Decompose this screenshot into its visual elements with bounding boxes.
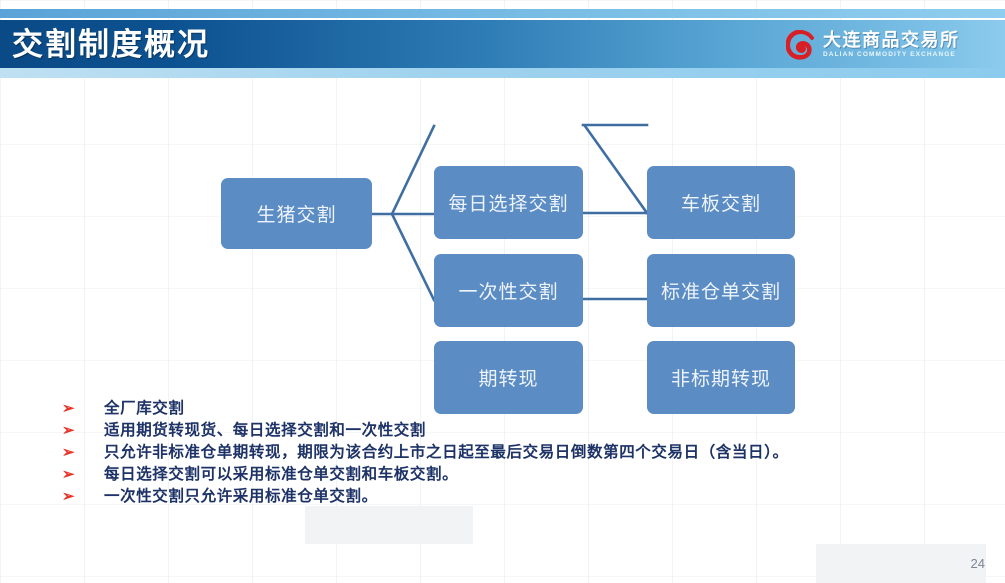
list-item: ➢ 全厂库交割 (62, 398, 962, 420)
arrow-bullet-icon: ➢ (62, 442, 104, 464)
node-root[interactable]: 生猪交割 (221, 178, 372, 249)
exchange-logo: 大连商品交易所 DALIAN COMMODITY EXCHANGE (786, 28, 960, 62)
list-item-label: 只允许非标准仓单期转现，期限为该合约上市之日起至最后交易日倒数第四个交易日（含当… (104, 442, 789, 464)
header-top-strip (0, 9, 1005, 18)
list-item: ➢ 只允许非标准仓单期转现，期限为该合约上市之日起至最后交易日倒数第四个交易日（… (62, 442, 962, 464)
logo-name-en: DALIAN COMMODITY EXCHANGE (823, 52, 960, 59)
node-one-time[interactable]: 一次性交割 (434, 254, 583, 327)
arrow-bullet-icon: ➢ (62, 420, 104, 442)
bullet-list: ➢ 全厂库交割 ➢ 适用期货转现货、每日选择交割和一次性交割 ➢ 只允许非标准仓… (62, 398, 962, 508)
slide-canvas: 交割制度概况 大连商品交易所 DALIAN COMMODITY EXCHANGE (0, 0, 1005, 583)
list-item-label: 适用期货转现货、每日选择交割和一次性交割 (104, 420, 426, 442)
logo-text-block: 大连商品交易所 DALIAN COMMODITY EXCHANGE (823, 31, 960, 59)
header-underline-strip (0, 68, 1005, 78)
delivery-flow-diagram: 生猪交割 每日选择交割 一次性交割 期转现 车板交割 标准仓单交割 非标期转现 (0, 78, 1005, 348)
edge-mid1-leaf2 (585, 126, 647, 213)
list-item: ➢ 每日选择交割可以采用标准仓单交割和车板交割。 (62, 464, 962, 486)
list-item-label: 全厂库交割 (104, 398, 185, 420)
node-standard-warrant[interactable]: 标准仓单交割 (647, 254, 795, 327)
edge-root-mid1 (392, 126, 434, 214)
arrow-bullet-icon: ➢ (62, 464, 104, 486)
node-truck-board[interactable]: 车板交割 (647, 166, 795, 239)
edge-root-mid3 (392, 214, 434, 300)
list-item: ➢ 适用期货转现货、每日选择交割和一次性交割 (62, 420, 962, 442)
arrow-bullet-icon: ➢ (62, 486, 104, 508)
arrow-bullet-icon: ➢ (62, 398, 104, 420)
dce-swirl-logo-icon (786, 30, 816, 60)
logo-name-cn: 大连商品交易所 (823, 31, 960, 49)
node-daily-choice[interactable]: 每日选择交割 (434, 166, 583, 239)
list-item-label: 一次性交割只允许采用标准仓单交割。 (104, 486, 378, 508)
page-title: 交割制度概况 (12, 24, 210, 66)
background-tiles (0, 506, 1005, 583)
page-number: 24 (971, 556, 985, 571)
list-item-label: 每日选择交割可以采用标准仓单交割和车板交割。 (104, 464, 458, 486)
list-item: ➢ 一次性交割只允许采用标准仓单交割。 (62, 486, 962, 508)
